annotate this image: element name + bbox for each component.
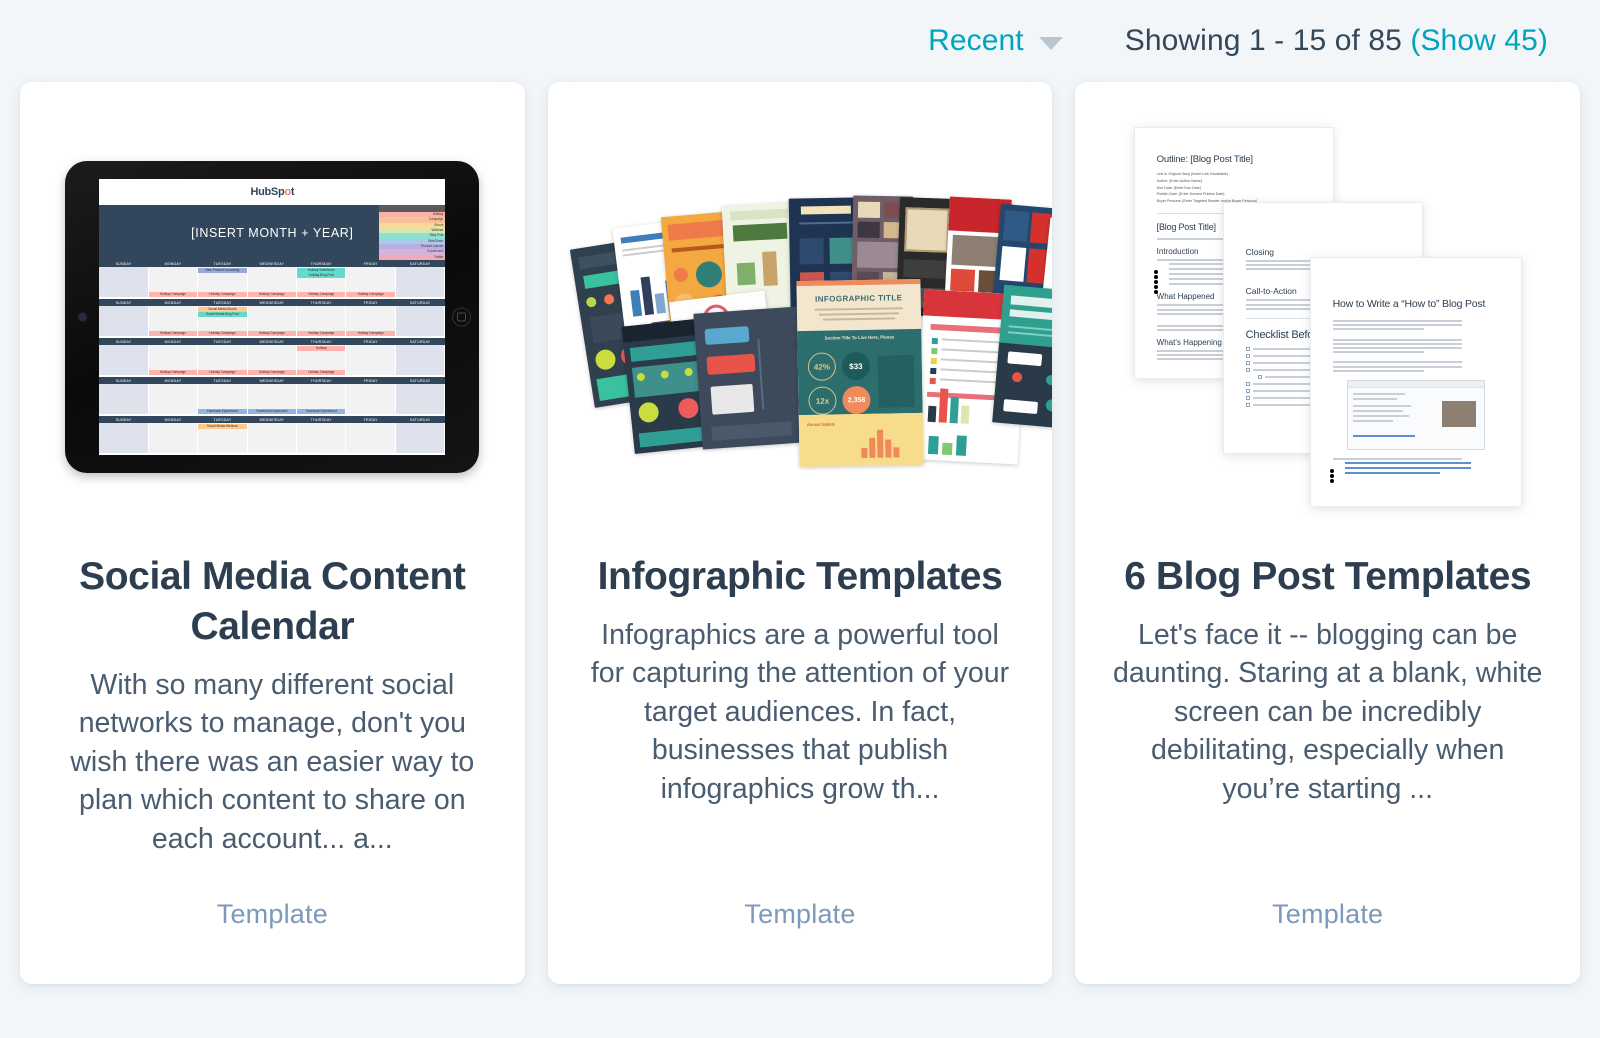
calendar-key-legend: Holiday Campaign Ebook Webinar Blog Post… — [379, 205, 445, 260]
hubspot-logo: HubSpot — [99, 179, 445, 205]
bullet-item — [1345, 472, 1440, 474]
calendar-day-headers: SUNDAYMONDAYTUESDAYWEDNESDAYTHURSDAYFRID… — [99, 299, 445, 306]
calendar-day-cell[interactable] — [396, 267, 445, 297]
infographic-main-title: INFOGRAPHIC TITLE — [797, 293, 921, 304]
calendar-day-cell[interactable]: Holiday Campaign — [149, 267, 198, 297]
card-content: Infographic Templates Infographics are a… — [570, 552, 1031, 984]
embedded-image — [1442, 401, 1476, 427]
card-thumbnail: INFOGRAPHIC TITLE Section Title To Live … — [570, 82, 1031, 552]
browser-toolbar — [1348, 381, 1484, 388]
chevron-down-icon — [1039, 37, 1063, 50]
card-thumbnail: HubSpot [INSERT MONTH + YEAR] Holiday Ca… — [42, 82, 503, 552]
document-meta: Due Date: [Enter Due Date] — [1157, 185, 1311, 192]
logo-text: HubSp — [250, 186, 284, 198]
checkbox-icon — [1246, 354, 1250, 358]
template-card-grid: HubSpot [INSERT MONTH + YEAR] Holiday Ca… — [0, 82, 1600, 984]
calendar-day-cell[interactable]: Holiday Campaign — [248, 345, 297, 375]
camera-icon — [79, 314, 86, 321]
calendar-day-header: MONDAY — [149, 299, 198, 306]
calendar-week: SUNDAYMONDAYTUESDAYWEDNESDAYTHURSDAYFRID… — [99, 416, 445, 455]
calendar-day-cell[interactable]: Holiday Campaign — [149, 345, 198, 375]
calendar-day-row: Holiday CampaignNew Product LaunchingHol… — [99, 267, 445, 297]
calendar-week: SUNDAYMONDAYTUESDAYWEDNESDAYTHURSDAYFRID… — [99, 299, 445, 338]
card-title: Social Media Content Calendar — [62, 552, 482, 652]
calendar-day-cell[interactable]: Holiday Campaign — [346, 306, 395, 336]
calendar-day-cell[interactable] — [396, 306, 445, 336]
calendar-grid: SUNDAYMONDAYTUESDAYWEDNESDAYTHURSDAYFRID… — [99, 260, 445, 455]
checkbox-icon — [1246, 382, 1250, 386]
card-title: Infographic Templates — [598, 552, 1003, 602]
calendar-day-header: MONDAY — [149, 338, 198, 345]
calendar-day-cell[interactable]: Holiday Campaign — [346, 267, 395, 297]
calendar-day-cell[interactable]: Facebook Experiment — [248, 384, 297, 414]
tablet-device-mockup: HubSpot [INSERT MONTH + YEAR] Holiday Ca… — [65, 161, 479, 473]
calendar-day-header: SATURDAY — [396, 260, 445, 267]
document-page: How to Write a “How to” Blog Post — [1310, 257, 1522, 507]
checkbox-icon — [1246, 361, 1250, 365]
template-card[interactable]: HubSpot [INSERT MONTH + YEAR] Holiday Ca… — [20, 82, 525, 984]
text-line — [1333, 343, 1462, 345]
calendar-day-row: Facebook ExperimentFacebook ExperimentFa… — [99, 384, 445, 414]
calendar-event[interactable]: Facebook Experiment — [248, 409, 296, 414]
calendar-banner: [INSERT MONTH + YEAR] Holiday Campaign E… — [99, 205, 445, 260]
text-line — [1333, 370, 1424, 372]
infographic-footer-label: Annual Update — [807, 421, 835, 426]
calendar-day-header: WEDNESDAY — [248, 299, 297, 306]
calendar-day-cell[interactable]: Holiday Campaign — [248, 267, 297, 297]
template-card[interactable]: INFOGRAPHIC TITLE Section Title To Live … — [548, 82, 1053, 984]
text-line — [1333, 339, 1462, 341]
calendar-event[interactable]: Social Media Ebook — [198, 307, 246, 312]
calendar-event[interactable]: Holiday Campaign — [297, 370, 345, 375]
calendar-day-header: SUNDAY — [99, 299, 148, 306]
calendar-day-header: SATURDAY — [396, 377, 445, 384]
calendar-event[interactable]: Holiday Campaign — [297, 292, 345, 297]
checkbox-icon — [1258, 375, 1262, 379]
document-title: How to Write a “How to” Blog Post — [1333, 298, 1499, 310]
calendar-day-header: SUNDAY — [99, 416, 148, 423]
calendar-day-header: THURSDAY — [297, 299, 346, 306]
calendar-day-header: SUNDAY — [99, 260, 148, 267]
sort-dropdown[interactable]: Recent — [928, 24, 1063, 58]
calendar-day-cell[interactable]: Holiday Campaign — [248, 306, 297, 336]
calendar-day-header: SATURDAY — [396, 416, 445, 423]
calendar-day-header: TUESDAY — [198, 377, 247, 384]
calendar-day-row: Holiday CampaignHoliday CampaignHoliday … — [99, 345, 445, 375]
calendar-day-header: SUNDAY — [99, 377, 148, 384]
document-section-heading: Closing — [1246, 247, 1400, 257]
calendar-day-cell[interactable]: Holiday Campaign — [149, 306, 198, 336]
document-title: Outline: [Blog Post Title] — [1157, 154, 1311, 165]
calendar-day-cell[interactable] — [346, 345, 395, 375]
screenshot-thumbnail — [1347, 380, 1485, 450]
infographic-sheet — [693, 307, 806, 450]
calendar-day-headers: SUNDAYMONDAYTUESDAYWEDNESDAYTHURSDAYFRID… — [99, 416, 445, 423]
calendar-day-cell[interactable]: Holiday Campaign — [297, 306, 346, 336]
calendar-day-cell[interactable]: Holiday SlideShareHoliday Blog PostHolid… — [297, 267, 346, 297]
calendar-day-header: FRIDAY — [346, 260, 395, 267]
calendar-event[interactable]: Holiday Campaign — [346, 292, 394, 297]
calendar-day-header: MONDAY — [149, 260, 198, 267]
calendar-day-header: FRIDAY — [346, 377, 395, 384]
checkbox-icon — [1246, 368, 1250, 372]
show-more-link[interactable]: (Show 45) — [1410, 24, 1548, 57]
calendar-day-cell[interactable] — [149, 423, 198, 453]
calendar-day-cell[interactable] — [346, 423, 395, 453]
infographic-collage: INFOGRAPHIC TITLE Section Title To Live … — [580, 192, 1020, 442]
calendar-day-header: WEDNESDAY — [248, 416, 297, 423]
card-type-label[interactable]: Template — [217, 899, 328, 930]
calendar-day-header: FRIDAY — [346, 299, 395, 306]
document-meta: Author: [Enter Author Name] — [1157, 178, 1311, 185]
calendar-day-header: TUESDAY — [198, 416, 247, 423]
text-line — [1333, 366, 1462, 368]
logo-text-tail: t — [291, 186, 294, 198]
text-line — [1333, 324, 1462, 326]
template-card[interactable]: Outline: [Blog Post Title] Link to Origi… — [1075, 82, 1580, 984]
calendar-day-cell[interactable] — [396, 384, 445, 414]
calendar-day-header: FRIDAY — [346, 338, 395, 345]
calendar-day-cell[interactable] — [99, 423, 148, 453]
calendar-event[interactable]: Holiday Campaign — [198, 331, 246, 336]
checkbox-icon — [1246, 403, 1250, 407]
card-content: Social Media Content Calendar With so ma… — [42, 552, 503, 984]
calendar-day-cell[interactable] — [99, 345, 148, 375]
calendar-day-header: SATURDAY — [396, 299, 445, 306]
key-legend-header — [379, 205, 445, 212]
calendar-day-cell[interactable] — [248, 423, 297, 453]
calendar-day-cell[interactable]: Holiday Campaign — [198, 345, 247, 375]
calendar-week: SUNDAYMONDAYTUESDAYWEDNESDAYTHURSDAYFRID… — [99, 260, 445, 299]
calendar-day-cell[interactable]: New Product LaunchingHoliday Campaign — [198, 267, 247, 297]
checkbox-icon — [1246, 396, 1250, 400]
calendar-day-row: Social Media Webinar — [99, 423, 445, 453]
calendar-event[interactable]: Facebook Experiment — [198, 409, 246, 414]
sort-dropdown-label: Recent — [928, 24, 1024, 58]
calendar-day-cell[interactable] — [297, 423, 346, 453]
document-meta: Publish Date: [Enter Desired Publish Dat… — [1157, 191, 1311, 198]
text-line — [1333, 320, 1462, 322]
tablet-screen: HubSpot [INSERT MONTH + YEAR] Holiday Ca… — [99, 179, 445, 455]
text-line — [1333, 458, 1462, 460]
calendar-day-cell[interactable]: HolidayHoliday Campaign — [297, 345, 346, 375]
text-line — [1333, 328, 1424, 330]
calendar-week: SUNDAYMONDAYTUESDAYWEDNESDAYTHURSDAYFRID… — [99, 377, 445, 416]
card-title: 6 Blog Post Templates — [1124, 552, 1531, 602]
calendar-banner-title: [INSERT MONTH + YEAR] — [191, 226, 353, 240]
calendar-day-header: MONDAY — [149, 416, 198, 423]
calendar-day-cell[interactable] — [396, 345, 445, 375]
calendar-day-header: THURSDAY — [297, 260, 346, 267]
calendar-event[interactable]: Holiday Campaign — [248, 292, 296, 297]
home-button-icon — [452, 308, 471, 327]
calendar-event[interactable]: Holiday Campaign — [198, 370, 246, 375]
bullet-item — [1345, 467, 1471, 469]
calendar-day-cell[interactable] — [346, 384, 395, 414]
checkbox-icon — [1246, 389, 1250, 393]
calendar-event[interactable]: Holiday Campaign — [297, 331, 345, 336]
calendar-day-header: SATURDAY — [396, 338, 445, 345]
calendar-event[interactable]: Holiday Campaign — [346, 331, 394, 336]
calendar-day-headers: SUNDAYMONDAYTUESDAYWEDNESDAYTHURSDAYFRID… — [99, 338, 445, 345]
calendar-week: SUNDAYMONDAYTUESDAYWEDNESDAYTHURSDAYFRID… — [99, 338, 445, 377]
calendar-event[interactable]: Holiday — [297, 346, 345, 351]
document-stack: Outline: [Blog Post Title] Link to Origi… — [1128, 117, 1528, 517]
calendar-day-header: THURSDAY — [297, 416, 346, 423]
calendar-day-cell[interactable] — [99, 267, 148, 297]
calendar-event[interactable]: Social Media Blog Post — [198, 312, 246, 317]
infographic-sheet-main: INFOGRAPHIC TITLE Section Title To Live … — [796, 279, 923, 467]
calendar-event[interactable]: Holiday Campaign — [198, 292, 246, 297]
card-description: Let's face it -- blogging can be dauntin… — [1113, 616, 1543, 808]
calendar-day-header: THURSDAY — [297, 377, 346, 384]
card-description: With so many different social networks t… — [57, 666, 487, 858]
results-toolbar: Recent Showing 1 - 15 of 85 (Show 45) — [0, 0, 1600, 82]
text-line — [1333, 347, 1462, 349]
calendar-day-cell[interactable]: Facebook Experiment — [198, 384, 247, 414]
calendar-event[interactable]: New Product Launching — [198, 268, 246, 273]
calendar-day-cell[interactable] — [149, 384, 198, 414]
key-legend-row: Twitter — [379, 255, 445, 260]
calendar-event[interactable]: Facebook Experiment — [297, 409, 345, 414]
calendar-day-header: TUESDAY — [198, 260, 247, 267]
calendar-day-cell[interactable]: Social Media EbookSocial Media Blog Post… — [198, 306, 247, 336]
text-line — [1333, 361, 1462, 363]
calendar-event[interactable]: Holiday Campaign — [149, 292, 197, 297]
text-line — [1333, 351, 1424, 353]
calendar-event[interactable]: Holiday Campaign — [149, 370, 197, 375]
calendar-day-cell[interactable]: Facebook Experiment — [297, 384, 346, 414]
document-meta: Link to Original Story (Insert Link if A… — [1157, 171, 1311, 178]
calendar-event[interactable]: Holiday Campaign — [149, 331, 197, 336]
calendar-day-cell[interactable]: Social Media Webinar — [198, 423, 247, 453]
calendar-day-header: THURSDAY — [297, 338, 346, 345]
calendar-day-header: TUESDAY — [198, 338, 247, 345]
calendar-event[interactable]: Holiday SlideShare — [297, 268, 345, 273]
bullet-list — [1345, 462, 1499, 474]
calendar-day-row: Holiday CampaignSocial Media EbookSocial… — [99, 306, 445, 336]
calendar-day-cell[interactable] — [396, 423, 445, 453]
calendar-day-header: MONDAY — [149, 377, 198, 384]
calendar-event[interactable]: Holiday Campaign — [248, 370, 296, 375]
calendar-day-header: WEDNESDAY — [248, 377, 297, 384]
calendar-event[interactable]: Social Media Webinar — [198, 424, 246, 429]
card-type-label[interactable]: Template — [1272, 899, 1383, 930]
calendar-day-header: SUNDAY — [99, 338, 148, 345]
calendar-day-header: WEDNESDAY — [248, 260, 297, 267]
calendar-day-headers: SUNDAYMONDAYTUESDAYWEDNESDAYTHURSDAYFRID… — [99, 377, 445, 384]
checkbox-icon — [1246, 347, 1250, 351]
calendar-day-cell[interactable] — [99, 306, 148, 336]
calendar-day-header: TUESDAY — [198, 299, 247, 306]
card-thumbnail: Outline: [Blog Post Title] Link to Origi… — [1097, 82, 1558, 552]
card-description: Infographics are a powerful tool for cap… — [585, 616, 1015, 808]
calendar-day-header: WEDNESDAY — [248, 338, 297, 345]
calendar-event[interactable]: Holiday Campaign — [248, 331, 296, 336]
calendar-event[interactable]: Holiday Blog Post — [297, 273, 345, 278]
results-count-text: Showing 1 - 15 of 85 — [1125, 24, 1411, 57]
results-count: Showing 1 - 15 of 85 (Show 45) — [1125, 24, 1548, 58]
calendar-day-header: FRIDAY — [346, 416, 395, 423]
card-content: 6 Blog Post Templates Let's face it -- b… — [1097, 552, 1558, 984]
card-type-label[interactable]: Template — [744, 899, 855, 930]
calendar-day-cell[interactable] — [99, 384, 148, 414]
bullet-item — [1345, 462, 1471, 464]
calendar-day-headers: SUNDAYMONDAYTUESDAYWEDNESDAYTHURSDAYFRID… — [99, 260, 445, 267]
